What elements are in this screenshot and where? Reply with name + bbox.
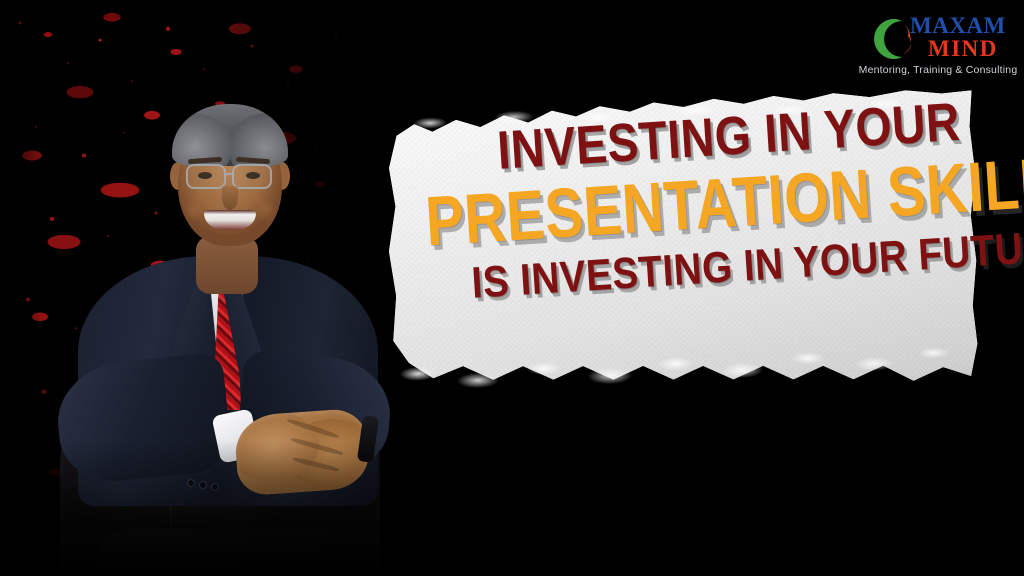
cheek-left: [182, 198, 206, 222]
eyeglasses-lens-right: [232, 164, 272, 189]
promotional-slide: INVESTING IN YOUR PRESENTATION SKILLS IS…: [0, 0, 1024, 576]
hair: [172, 104, 288, 166]
portrait-bottom-fade: [0, 440, 400, 576]
eyeglasses-bridge: [226, 173, 234, 175]
cheek-right: [254, 198, 278, 222]
logo-wordmark: MAXAM MIND: [910, 14, 1016, 66]
logo-tagline: Mentoring, Training & Consulting: [858, 64, 1018, 76]
logo-mark-and-wordmark: MAXAM MIND: [858, 14, 1018, 64]
brand-logo: MAXAM MIND Mentoring, Training & Consult…: [858, 12, 1018, 82]
eyeglasses-lens-left: [186, 164, 226, 189]
nose: [222, 186, 238, 210]
logo-word-mind: MIND: [928, 37, 1016, 60]
headline-block: INVESTING IN YOUR PRESENTATION SKILLS IS…: [400, 94, 982, 339]
logo-word-maxam: MAXAM: [910, 14, 1016, 37]
left-edge-vignette: [0, 0, 42, 576]
